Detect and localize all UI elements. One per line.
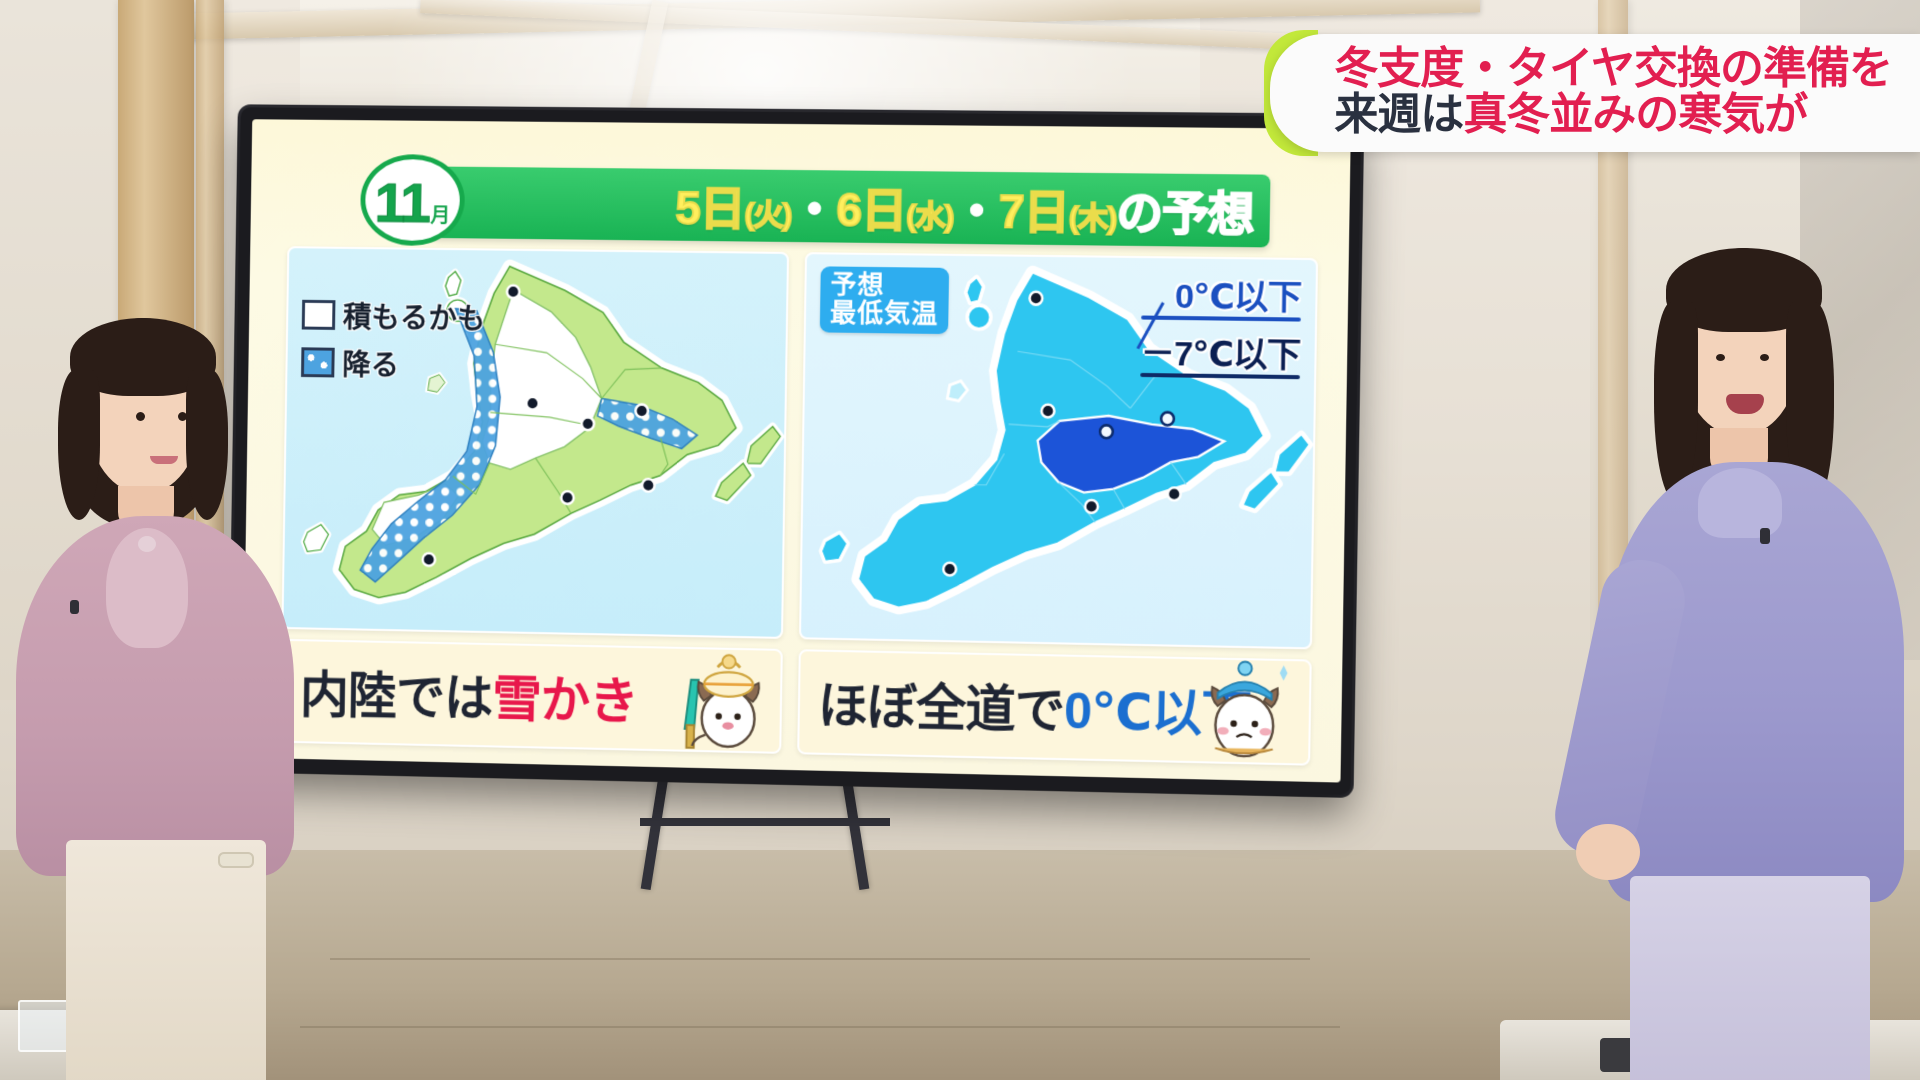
- presenter-left-lapel-mic-icon: [70, 600, 79, 614]
- legend-label-accumulate: 積もるかも: [343, 294, 486, 338]
- presenter-right-skirt: [1630, 876, 1870, 1080]
- date-day-5-weekday: (火): [744, 199, 791, 232]
- chip-line-2: 最低気温: [830, 299, 939, 329]
- caption-left: 内陸では雪かき: [280, 639, 783, 754]
- title-suffix: の予想: [1116, 186, 1254, 240]
- islands-southwest: [304, 524, 329, 552]
- studio-monitor[interactable]: 5日(火)・6日(水)・7日(木)の予想 11 月: [230, 107, 1361, 795]
- cold-shivering-mascot-icon: [1188, 648, 1296, 763]
- presenter-left-hair-side-left: [58, 370, 100, 520]
- date-band: 5日(火)・6日(水)・7日(木)の予想: [431, 166, 1271, 247]
- presenter-left-skirt: [66, 840, 266, 1080]
- banner-line-2: 来週は真冬並みの寒気が: [1334, 92, 1892, 138]
- banner-line-2-dark: 来週は: [1334, 90, 1463, 139]
- date-separator-1: ・: [791, 183, 837, 236]
- stand-crossbar: [640, 818, 890, 826]
- presenter-right-hand: [1576, 824, 1640, 880]
- snow-shovel-mascot-icon: [662, 638, 767, 752]
- caption-left-plain: 内陸では: [300, 667, 493, 727]
- panel-precipitation: 積もるかも 降る 内陸では雪かき: [280, 246, 789, 754]
- banner-line-1: 冬支度・タイヤ交換の準備を: [1334, 46, 1892, 92]
- monitor-stand: [640, 770, 890, 890]
- legend-swatch-blue-dots: [301, 347, 335, 377]
- presenter-right-eye-right: [1760, 354, 1769, 361]
- floor-seam-2: [300, 1026, 1340, 1028]
- forecast-title-row: 5日(火)・6日(水)・7日(木)の予想 11 月: [360, 158, 1271, 248]
- broadcast-frame: 5日(火)・6日(水)・7日(木)の予想 11 月: [0, 0, 1920, 1080]
- presenter-right-collar: [1698, 468, 1782, 538]
- monitor-screen: 5日(火)・6日(水)・7日(木)の予想 11 月: [242, 119, 1350, 782]
- month-number: 11: [374, 159, 429, 231]
- caption-right: ほぼ全道で0℃以下: [797, 649, 1312, 766]
- date-day-5: 5日: [675, 182, 745, 235]
- panel-min-temperature: 予想 最低気温 0℃以下 －7℃以下 ほぼ全道で0: [797, 252, 1318, 766]
- legend-swatch-white-box: [302, 300, 336, 330]
- legend-label-falling: 降る: [342, 342, 400, 384]
- presenter-left-neck-bow: [138, 536, 156, 552]
- legend-item-falling: 降る: [301, 341, 485, 385]
- stand-leg-right: [841, 770, 870, 890]
- presenter-left-mouth: [150, 456, 178, 464]
- islands-southwest-temp: [822, 533, 848, 561]
- caption-left-text: 内陸では雪かき: [299, 655, 638, 734]
- chip-line-1: 予想: [830, 270, 939, 299]
- presenter-right-eye-left: [1716, 354, 1725, 361]
- date-day-6-weekday: (水): [906, 200, 954, 234]
- forecast-min-temp-chip: 予想 最低気温: [820, 266, 949, 334]
- month-kanji: 月: [428, 183, 450, 228]
- presenter-left-wristwatch: [218, 852, 254, 868]
- precipitation-legend: 積もるかも 降る: [301, 294, 486, 392]
- presenter-right: [1570, 228, 1910, 1080]
- temp-key-minus7: －7℃以下: [1140, 326, 1301, 378]
- presenter-right-lapel-mic-icon: [1760, 528, 1770, 544]
- forecast-panels: 積もるかも 降る 内陸では雪かき: [280, 246, 1318, 765]
- date-day-7: 7日: [998, 185, 1069, 238]
- temp-key-zero: 0℃以下: [1141, 268, 1302, 319]
- news-banner: 冬支度・タイヤ交換の準備を 来週は真冬並みの寒気が: [1270, 34, 1920, 152]
- presenter-left: [10, 300, 300, 1080]
- caption-right-plain: ほぼ全道で: [817, 678, 1064, 739]
- date-day-6: 6日: [836, 183, 907, 236]
- date-band-text: 5日(火)・6日(水)・7日(木)の予想: [675, 172, 1254, 244]
- banner-line-2-red: 真冬並みの寒気が: [1463, 90, 1807, 139]
- temperature-key: 0℃以下 －7℃以下: [1140, 268, 1301, 379]
- date-day-7-weekday: (木): [1069, 202, 1117, 236]
- legend-item-accumulate: 積もるかも: [302, 294, 486, 338]
- date-separator-2: ・: [953, 185, 999, 238]
- presenter-left-eye-left: [136, 412, 145, 421]
- map-precipitation[interactable]: 積もるかも 降る: [281, 246, 789, 639]
- map-min-temperature[interactable]: 予想 最低気温 0℃以下 －7℃以下: [799, 252, 1318, 649]
- banner-body: 冬支度・タイヤ交換の準備を 来週は真冬並みの寒気が: [1270, 34, 1920, 152]
- stand-leg-left: [641, 770, 670, 890]
- presenter-left-eye-right: [178, 412, 187, 421]
- presenter-left-hair-side-right: [186, 370, 228, 520]
- islands-northwest-temp: [966, 278, 990, 329]
- caption-right-text: ほぼ全道で0℃以下: [817, 666, 1251, 748]
- caption-left-highlight: 雪かき: [492, 671, 638, 730]
- floor-seam-1: [330, 958, 1310, 960]
- island-okushiri-temp: [949, 382, 967, 400]
